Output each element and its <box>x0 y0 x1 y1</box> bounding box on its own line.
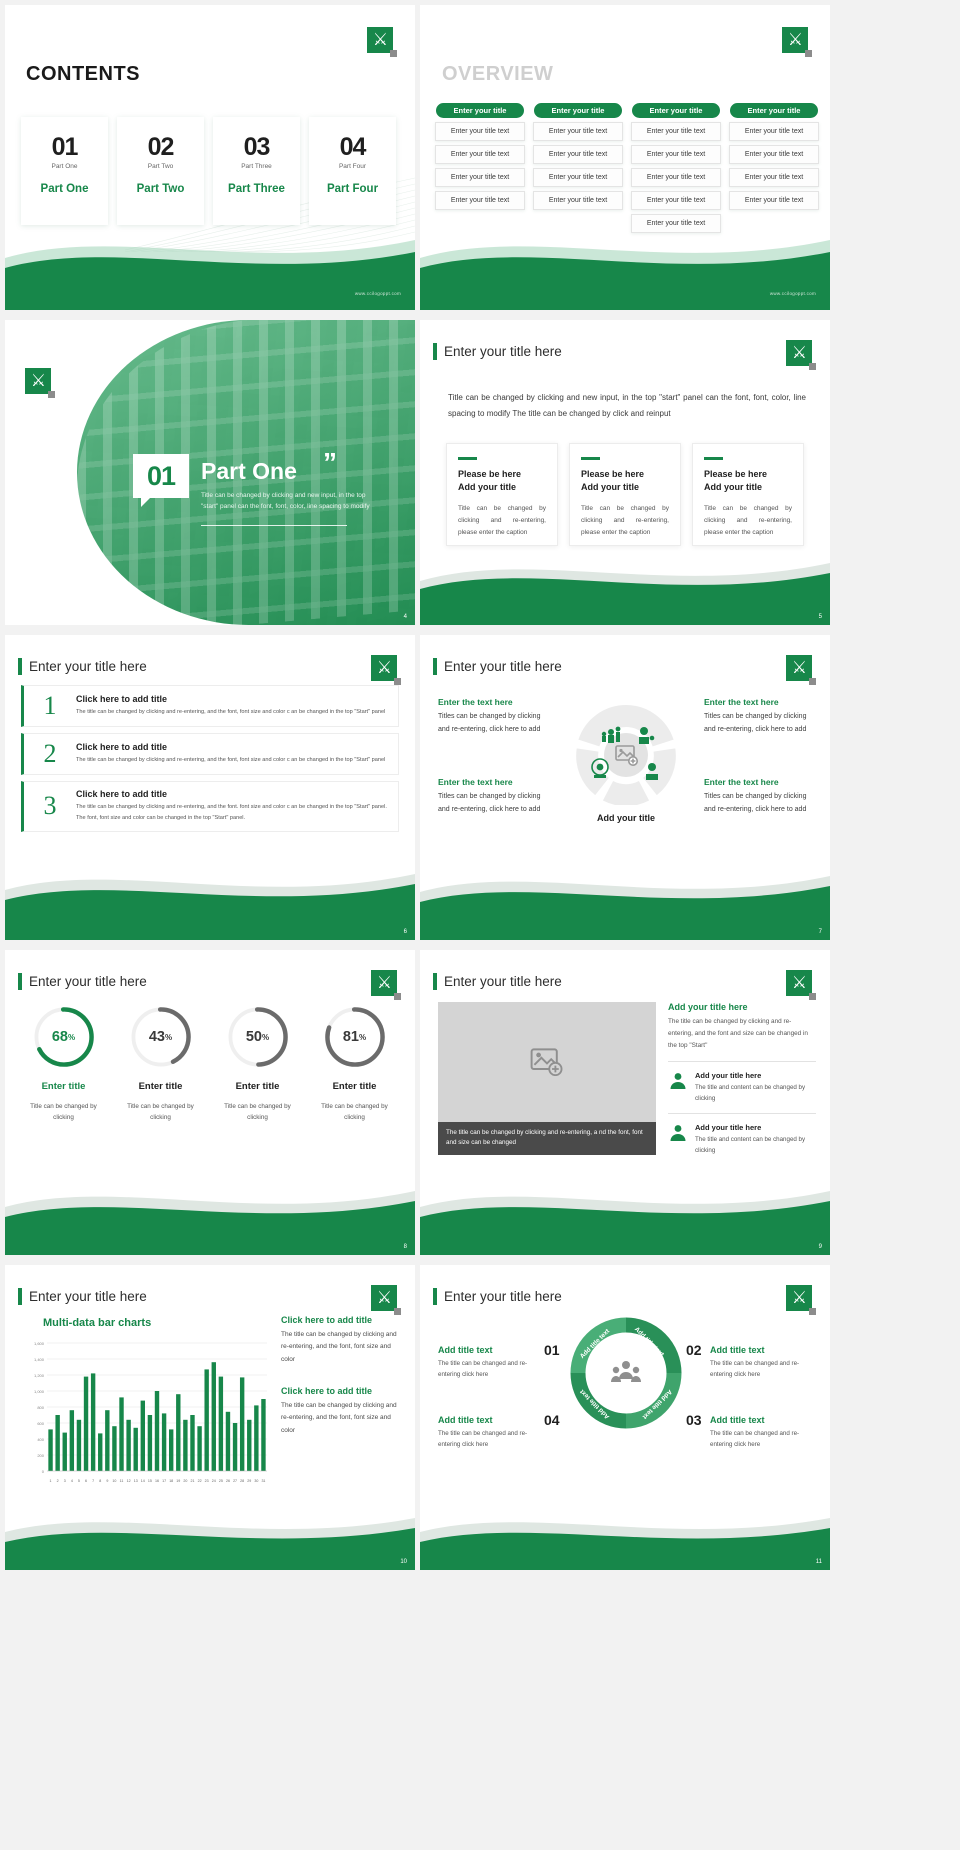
page-title: Enter your title here <box>29 974 147 989</box>
wheel-text-block: Enter the text here Titles can be change… <box>704 697 816 737</box>
panel-body: The title can be changed by clicking and… <box>281 1400 403 1437</box>
svg-text:1,200: 1,200 <box>34 1373 45 1378</box>
slide-header: Enter your title here <box>433 1288 562 1305</box>
ring-item[interactable]: 50% Enter title Title can be changed by … <box>209 1006 306 1124</box>
header-accent-bar <box>433 973 437 990</box>
svg-text:14: 14 <box>141 1479 145 1483</box>
ring-unit: % <box>262 1033 269 1042</box>
quadrant-title: Add title text <box>710 1345 810 1355</box>
site-url: www.ccilogoppt.com <box>770 291 816 296</box>
contents-card[interactable]: 01 Part One Part One <box>21 117 108 225</box>
slide-header: Enter your title here <box>18 658 147 675</box>
crest-glyph: ⚔ <box>788 32 802 49</box>
wave-decoration <box>420 547 830 625</box>
item-number: 1 <box>24 693 76 719</box>
lead-paragraph: Title can be changed by clicking and new… <box>448 390 806 422</box>
item-desc: The title and content can be changed by … <box>695 1082 816 1104</box>
logo-dot <box>809 1308 816 1315</box>
overview-item[interactable]: Enter your title text <box>631 122 721 141</box>
list-item[interactable]: 1 Click here to add title The title can … <box>21 685 399 727</box>
wheel-text-block: Enter the text here Titles can be change… <box>704 777 816 817</box>
column-pill[interactable]: Enter your title <box>632 103 720 118</box>
logo-dot <box>809 363 816 370</box>
item-title: Click here to add title <box>76 789 388 799</box>
image-placeholder-icon <box>530 1048 564 1076</box>
item-desc: The title can be changed by clicking and… <box>76 802 388 824</box>
wave-decoration <box>420 862 830 940</box>
wave-decoration <box>5 1177 415 1255</box>
svg-text:29: 29 <box>247 1479 251 1483</box>
page-title: OVERVIEW <box>442 63 553 86</box>
contents-card[interactable]: 03 Part Three Part Three <box>213 117 300 225</box>
divider-rule <box>201 525 347 526</box>
brand-logo-icon: ⚔ <box>786 655 812 681</box>
ring-list: 68% Enter title Title can be changed by … <box>15 1006 403 1124</box>
wheel-text-block: Enter the text here Titles can be change… <box>438 697 550 737</box>
svg-text:200: 200 <box>37 1453 44 1458</box>
wave-decoration <box>5 1492 415 1570</box>
overview-item[interactable]: Enter your title text <box>729 168 819 187</box>
item-title: Add your title here <box>695 1071 816 1080</box>
ring-item[interactable]: 81% Enter title Title can be changed by … <box>306 1006 403 1124</box>
svg-text:10: 10 <box>112 1479 116 1483</box>
logo-dot <box>394 993 401 1000</box>
image-placeholder[interactable] <box>438 1002 656 1122</box>
block-body: Titles can be changed by clicking and re… <box>704 790 816 817</box>
slide-bar-chart[interactable]: Enter your title here ⚔ Multi-data bar c… <box>5 1265 415 1570</box>
logo-dot <box>805 50 812 57</box>
card-accent-dash <box>458 457 477 460</box>
ring-value: 68% <box>33 1006 95 1068</box>
segment-wheel[interactable] <box>576 705 676 805</box>
ring-value: 81% <box>324 1006 386 1068</box>
overview-item[interactable]: Enter your title text <box>631 168 721 187</box>
panel-title: Click here to add title <box>281 1386 403 1396</box>
quadrant-number: 03 <box>686 1412 702 1428</box>
crest-glyph: ⚔ <box>792 345 806 362</box>
card-number: 01 <box>52 135 78 160</box>
item-title: Add your title here <box>695 1123 816 1132</box>
header-accent-bar <box>18 1288 22 1305</box>
svg-text:20: 20 <box>183 1479 187 1483</box>
page-number: 6 <box>404 929 407 935</box>
quadrant-body: The title can be changed and re-entering… <box>710 1428 810 1450</box>
contents-card[interactable]: 04 Part Four Part Four <box>309 117 396 225</box>
ring-item[interactable]: 43% Enter title Title can be changed by … <box>112 1006 209 1124</box>
person-icon <box>668 1071 688 1091</box>
quadrant-number: 02 <box>686 1342 702 1358</box>
logo-dot <box>390 50 397 57</box>
crest-glyph: ⚔ <box>31 373 45 390</box>
overview-item[interactable]: Enter your title text <box>435 145 525 164</box>
slide-overview[interactable]: ⚔ OVERVIEW Enter your title Enter your t… <box>420 5 830 310</box>
overview-item[interactable]: Enter your title text <box>435 168 525 187</box>
page-number: 4 <box>404 614 407 620</box>
quadrant-text: Add title text The title can be changed … <box>710 1345 810 1380</box>
wave-decoration <box>420 1177 830 1255</box>
slide-deck-preview: ⚔ CONTENTS 01 Part One Part One <box>0 0 960 1850</box>
info-panel: Add your title here The title can be cha… <box>668 1002 816 1156</box>
page-number: 8 <box>404 1244 407 1250</box>
site-url: www.ccilogoppt.com <box>355 291 401 296</box>
overview-item[interactable]: Enter your title text <box>729 145 819 164</box>
overview-item[interactable]: Enter your title text <box>729 122 819 141</box>
svg-text:400: 400 <box>37 1437 44 1442</box>
progress-ring: 68% <box>33 1006 95 1068</box>
overview-item[interactable]: Enter your title text <box>631 191 721 210</box>
svg-text:17: 17 <box>162 1479 166 1483</box>
block-title: Enter the text here <box>704 777 816 787</box>
logo-dot <box>394 1308 401 1315</box>
svg-text:8: 8 <box>99 1479 101 1483</box>
card-body: Title can be changed by clicking and re-… <box>704 503 792 539</box>
progress-ring: 81% <box>324 1006 386 1068</box>
card-title: Please be here Add your title <box>704 468 792 494</box>
wave-decoration <box>420 1492 830 1570</box>
page-number: 7 <box>819 929 822 935</box>
brand-logo-icon: ⚔ <box>371 655 397 681</box>
header-accent-bar <box>18 973 22 990</box>
column-pill[interactable]: Enter your title <box>436 103 524 118</box>
item-desc: The title can be changed by clicking and… <box>76 755 388 766</box>
panel-body: The title can be changed by clicking and… <box>281 1329 403 1366</box>
svg-text:27: 27 <box>233 1479 237 1483</box>
overview-column: Enter your title Enter your title text E… <box>533 103 623 233</box>
item-desc: The title and content can be changed by … <box>695 1134 816 1156</box>
image-caption: The title can be changed by clicking and… <box>438 1122 656 1155</box>
ring-label: Enter title <box>236 1081 280 1092</box>
cycle-wheel[interactable]: Add title text Add title text Add title … <box>570 1317 682 1429</box>
quadrant-title: Add title text <box>438 1415 538 1425</box>
quadrant-title: Add title text <box>438 1345 538 1355</box>
svg-text:22: 22 <box>198 1479 202 1483</box>
quadrant-body: The title can be changed and re-entering… <box>438 1358 538 1380</box>
svg-text:13: 13 <box>134 1479 138 1483</box>
chart-side-panel: Click here to add title The title can be… <box>281 1315 403 1437</box>
page-title: Enter your title here <box>444 974 562 989</box>
svg-text:15: 15 <box>148 1479 152 1483</box>
block-title: Enter the text here <box>704 697 816 707</box>
card-label: Part Two <box>137 183 185 195</box>
card-label: Part One <box>41 183 89 195</box>
svg-text:19: 19 <box>176 1479 180 1483</box>
page-number: 5 <box>819 614 822 620</box>
brand-logo-icon: ⚔ <box>786 970 812 996</box>
overview-item[interactable]: Enter your title text <box>435 191 525 210</box>
header-accent-bar <box>433 1288 437 1305</box>
brand-logo-icon: ⚔ <box>371 970 397 996</box>
brand-logo-icon: ⚔ <box>371 1285 397 1311</box>
brand-logo-icon: ⚔ <box>786 340 812 366</box>
overview-column: Enter your title Enter your title text E… <box>435 103 525 233</box>
quadrant-text: Add title text The title can be changed … <box>438 1345 538 1380</box>
page-title: CONTENTS <box>26 63 140 86</box>
ring-number: 50 <box>246 1029 262 1045</box>
card-body: Title can be changed by clicking and re-… <box>581 503 669 539</box>
chart-title: Multi-data bar charts <box>43 1317 151 1329</box>
ring-value: 43% <box>130 1006 192 1068</box>
card-accent-dash <box>581 457 600 460</box>
svg-text:1,400: 1,400 <box>34 1357 45 1362</box>
card-label: Part Four <box>327 183 378 195</box>
svg-text:31: 31 <box>261 1479 265 1483</box>
overview-item[interactable]: Enter your title text <box>631 214 721 233</box>
list-item[interactable]: 2 Click here to add title The title can … <box>21 733 399 775</box>
overview-item[interactable]: Enter your title text <box>729 191 819 210</box>
svg-text:30: 30 <box>254 1479 258 1483</box>
card-number: 02 <box>148 135 174 160</box>
slide-header: Enter your title here <box>433 343 562 360</box>
crest-glyph: ⚔ <box>792 1290 806 1307</box>
quadrant-number: 01 <box>544 1342 560 1358</box>
svg-text:7: 7 <box>92 1479 94 1483</box>
brand-logo-icon: ⚔ <box>782 27 808 53</box>
page-number: 10 <box>400 1559 407 1565</box>
svg-text:21: 21 <box>190 1479 194 1483</box>
column-pill[interactable]: Enter your title <box>730 103 818 118</box>
contents-card[interactable]: 02 Part Two Part Two <box>117 117 204 225</box>
page-title: Enter your title here <box>29 1289 147 1304</box>
overview-item[interactable]: Enter your title text <box>435 122 525 141</box>
wheel-text-block: Enter the text here Titles can be change… <box>438 777 550 817</box>
panel-body: The title can be changed by clicking and… <box>668 1016 816 1052</box>
ring-sub: Title can be changed by clicking <box>119 1101 203 1124</box>
contents-card-list: 01 Part One Part One 02 Part Two Part Tw… <box>21 117 396 225</box>
page-number: 11 <box>816 1559 822 1565</box>
slide-header: Enter your title here <box>18 1288 147 1305</box>
ring-unit: % <box>359 1033 366 1042</box>
info-card[interactable]: Please be here Add your title Title can … <box>569 443 681 546</box>
ring-sub: Title can be changed by clicking <box>313 1101 397 1124</box>
overview-columns: Enter your title Enter your title text E… <box>435 103 819 233</box>
svg-text:26: 26 <box>226 1479 230 1483</box>
brand-logo-icon: ⚔ <box>25 368 51 394</box>
page-title: Enter your title here <box>29 659 147 674</box>
svg-text:800: 800 <box>37 1405 44 1410</box>
block-body: Titles can be changed by clicking and re… <box>438 710 550 737</box>
svg-text:1: 1 <box>50 1479 52 1483</box>
card-list: Please be here Add your title Title can … <box>446 443 804 546</box>
svg-text:23: 23 <box>205 1479 209 1483</box>
item-desc: The title can be changed by clicking and… <box>76 707 388 718</box>
block-title: Enter the text here <box>438 697 550 707</box>
progress-ring: 50% <box>227 1006 289 1068</box>
card-title: Please be here Add your title <box>581 468 669 494</box>
svg-text:2: 2 <box>57 1479 59 1483</box>
card-title: Please be here Add your title <box>458 468 546 494</box>
ring-unit: % <box>165 1033 172 1042</box>
panel-title: Add your title here <box>668 1002 816 1012</box>
svg-text:9: 9 <box>106 1479 108 1483</box>
list-item-text: Add your title here The title and conten… <box>695 1071 816 1104</box>
block-body: Titles can be changed by clicking and re… <box>438 790 550 817</box>
list-item[interactable]: Add your title here The title and conten… <box>668 1071 816 1104</box>
info-card[interactable]: Please be here Add your title Title can … <box>446 443 558 546</box>
overview-column: Enter your title Enter your title text E… <box>631 103 721 233</box>
quadrant-title: Add title text <box>710 1415 810 1425</box>
page-title: Enter your title here <box>444 1289 562 1304</box>
quadrant-text: Add title text The title can be changed … <box>710 1415 810 1450</box>
svg-text:6: 6 <box>85 1479 87 1483</box>
crest-glyph: ⚔ <box>377 1290 391 1307</box>
logo-dot <box>48 391 55 398</box>
wave-decoration <box>420 232 830 310</box>
logo-dot <box>394 678 401 685</box>
svg-text:24: 24 <box>212 1479 216 1483</box>
page-title: Enter your title here <box>444 344 562 359</box>
slide-donut-wheel[interactable]: Enter your title here ⚔ Enter the text h… <box>420 635 830 940</box>
header-accent-bar <box>433 343 437 360</box>
card-subtitle: Part Two <box>148 163 174 170</box>
logo-dot <box>809 993 816 1000</box>
svg-text:18: 18 <box>169 1479 173 1483</box>
section-heading: Part One <box>201 458 297 485</box>
item-text: Click here to add title The title can be… <box>76 694 388 718</box>
card-number: 03 <box>244 135 270 160</box>
brand-logo-icon: ⚔ <box>367 27 393 53</box>
svg-text:600: 600 <box>37 1421 44 1426</box>
overview-item[interactable]: Enter your title text <box>533 191 623 210</box>
ring-label: Enter title <box>333 1081 377 1092</box>
person-icon <box>668 1123 688 1143</box>
ring-item[interactable]: 68% Enter title Title can be changed by … <box>15 1006 112 1124</box>
slide-part-one-cover[interactable]: ⚔ 01 Part One ” Title can be changed by … <box>5 320 415 625</box>
header-accent-bar <box>433 658 437 675</box>
quadrant-body: The title can be changed and re-entering… <box>438 1428 538 1450</box>
item-text: Click here to add title The title can be… <box>76 789 388 824</box>
block-body: Titles can be changed by clicking and re… <box>704 710 816 737</box>
ring-sub: Title can be changed by clicking <box>216 1101 300 1124</box>
overview-item[interactable]: Enter your title text <box>533 122 623 141</box>
column-pill[interactable]: Enter your title <box>534 103 622 118</box>
ring-value: 50% <box>227 1006 289 1068</box>
crest-glyph: ⚔ <box>377 975 391 992</box>
ring-unit: % <box>68 1033 75 1042</box>
quadrant-text: Add title text The title can be changed … <box>438 1415 538 1450</box>
card-subtitle: Part One <box>51 163 77 170</box>
section-number-badge: 01 <box>133 454 189 498</box>
progress-ring: 43% <box>130 1006 192 1068</box>
card-subtitle: Part Three <box>241 163 272 170</box>
list-item[interactable]: 3 Click here to add title The title can … <box>21 781 399 832</box>
card-label: Part Three <box>228 183 285 195</box>
svg-text:16: 16 <box>155 1479 159 1483</box>
svg-text:12: 12 <box>127 1479 131 1483</box>
list-item[interactable]: Add your title here The title and conten… <box>668 1123 816 1156</box>
overview-item[interactable]: Enter your title text <box>533 168 623 187</box>
overview-item[interactable]: Enter your title text <box>533 145 623 164</box>
slide-contents[interactable]: ⚔ CONTENTS 01 Part One Part One <box>5 5 415 310</box>
slide-numbered-list[interactable]: Enter your title here ⚔ 1 Click here to … <box>5 635 415 940</box>
card-subtitle: Part Four <box>339 163 366 170</box>
ring-sub: Title can be changed by clicking <box>22 1101 106 1124</box>
item-number: 2 <box>24 741 76 767</box>
slide-image-and-list[interactable]: Enter your title here ⚔ The title can be… <box>420 950 830 1255</box>
section-body: Title can be changed by clicking and new… <box>201 490 371 513</box>
card-accent-dash <box>704 457 723 460</box>
block-title: Enter the text here <box>438 777 550 787</box>
svg-text:11: 11 <box>120 1479 124 1483</box>
slide-three-cards[interactable]: Enter your title here ⚔ Title can be cha… <box>420 320 830 625</box>
slide-header: Enter your title here <box>433 658 562 675</box>
svg-text:3: 3 <box>64 1479 66 1483</box>
overview-column: Enter your title Enter your title text E… <box>729 103 819 233</box>
crest-glyph: ⚔ <box>792 975 806 992</box>
quadrant-body: The title can be changed and re-entering… <box>710 1358 810 1380</box>
card-body: Title can be changed by clicking and re-… <box>458 503 546 539</box>
panel-title: Click here to add title <box>281 1315 403 1325</box>
svg-text:5: 5 <box>78 1479 80 1483</box>
crest-glyph: ⚔ <box>373 32 387 49</box>
crest-glyph: ⚔ <box>792 660 806 677</box>
quote-mark-icon: ” <box>323 453 337 473</box>
page-title: Enter your title here <box>444 659 562 674</box>
divider <box>668 1113 816 1114</box>
wheel-center-label: Add your title <box>576 813 676 823</box>
bar-chart: 02004006008001,0001,2001,4001,6001234567… <box>21 1339 271 1487</box>
logo-dot <box>809 678 816 685</box>
item-title: Click here to add title <box>76 742 388 752</box>
item-text: Click here to add title The title can be… <box>76 742 388 766</box>
ring-number: 68 <box>52 1029 68 1045</box>
svg-text:0: 0 <box>42 1469 45 1474</box>
quadrant-number: 04 <box>544 1412 560 1428</box>
ring-label: Enter title <box>42 1081 86 1092</box>
item-title: Click here to add title <box>76 694 388 704</box>
brand-logo-icon: ⚔ <box>786 1285 812 1311</box>
page-number: 9 <box>819 1244 822 1250</box>
ring-number: 43 <box>149 1029 165 1045</box>
slide-cycle-diagram[interactable]: Enter your title here ⚔ Add title text T… <box>420 1265 830 1570</box>
svg-text:28: 28 <box>240 1479 244 1483</box>
slide-header: Enter your title here <box>433 973 562 990</box>
svg-text:1,000: 1,000 <box>34 1389 45 1394</box>
wave-decoration <box>5 862 415 940</box>
svg-text:1,600: 1,600 <box>34 1341 45 1346</box>
card-number: 04 <box>340 135 366 160</box>
numbered-row-list: 1 Click here to add title The title can … <box>21 685 399 838</box>
svg-text:25: 25 <box>219 1479 223 1483</box>
overview-item[interactable]: Enter your title text <box>631 145 721 164</box>
ring-label: Enter title <box>139 1081 183 1092</box>
slide-percent-rings[interactable]: Enter your title here ⚔ 68% Enter title … <box>5 950 415 1255</box>
crest-glyph: ⚔ <box>377 660 391 677</box>
svg-text:4: 4 <box>71 1479 73 1483</box>
item-number: 3 <box>24 793 76 819</box>
divider <box>668 1061 816 1062</box>
list-item-text: Add your title here The title and conten… <box>695 1123 816 1156</box>
info-card[interactable]: Please be here Add your title Title can … <box>692 443 804 546</box>
header-accent-bar <box>18 658 22 675</box>
slide-header: Enter your title here <box>18 973 147 990</box>
ring-number: 81 <box>343 1029 359 1045</box>
